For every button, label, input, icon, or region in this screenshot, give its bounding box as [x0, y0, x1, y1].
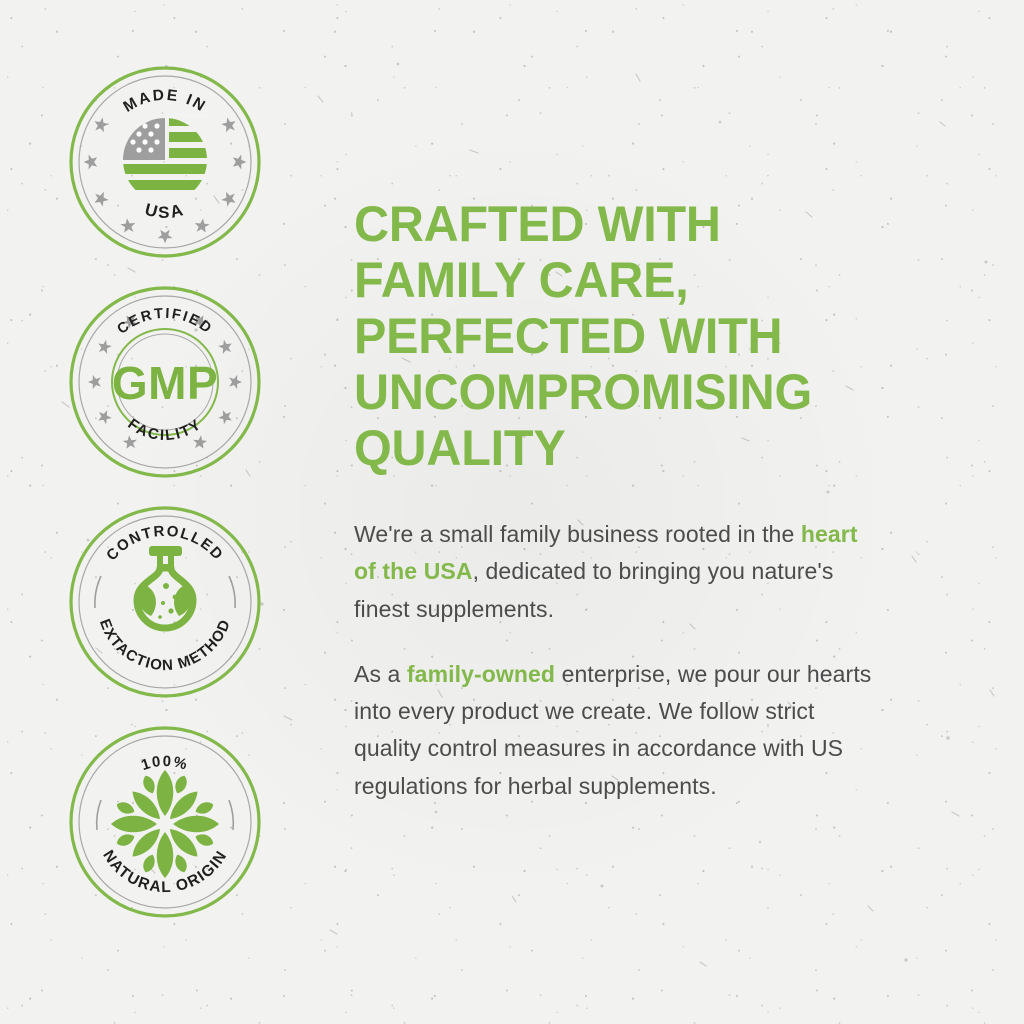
- paragraph-1: We're a small family business rooted in …: [354, 516, 874, 628]
- flask-leaf-icon: [137, 546, 193, 628]
- badge-side-tick-left: [97, 800, 101, 830]
- badge-gmp-certified: GMP CERTIFIED FACILITY: [65, 282, 265, 482]
- badge-side-tick-right: [229, 576, 235, 608]
- promo-graphic: MADE IN USA: [0, 0, 1024, 1024]
- layout-columns: MADE IN USA: [0, 0, 1024, 1024]
- body-copy: We're a small family business rooted in …: [354, 516, 874, 805]
- badge-bottom-label: USA: [143, 200, 187, 222]
- badge-made-in-usa: MADE IN USA: [65, 62, 265, 262]
- marketing-text-column: CRAFTED WITH FAMILY CARE, PERFECTED WITH…: [330, 0, 1024, 805]
- highlighted-phrase: heart of the USA: [354, 521, 858, 584]
- page-headline: CRAFTED WITH FAMILY CARE, PERFECTED WITH…: [354, 196, 897, 476]
- badge-top-label: MADE IN: [121, 87, 210, 116]
- us-flag-circle-icon: [123, 118, 207, 202]
- leaf-rosette-icon: [111, 770, 219, 878]
- badge-side-tick-left: [95, 576, 101, 608]
- certification-badge-column: MADE IN USA: [0, 0, 330, 922]
- badge-top-label: CERTIFIED: [114, 306, 215, 338]
- badge-natural-origin: 100% NATURAL ORIGIN: [65, 722, 265, 922]
- badge-side-tick-right: [229, 800, 233, 830]
- badge-controlled-extraction: CONTROLLED EXTACTION METHOD: [65, 502, 265, 702]
- highlighted-phrase: family-owned: [407, 661, 555, 687]
- badge-top-label: CONTROLLED: [103, 523, 227, 564]
- paragraph-2: As a family-owned enterprise, we pour ou…: [354, 656, 874, 805]
- gmp-text-icon: GMP: [112, 357, 218, 409]
